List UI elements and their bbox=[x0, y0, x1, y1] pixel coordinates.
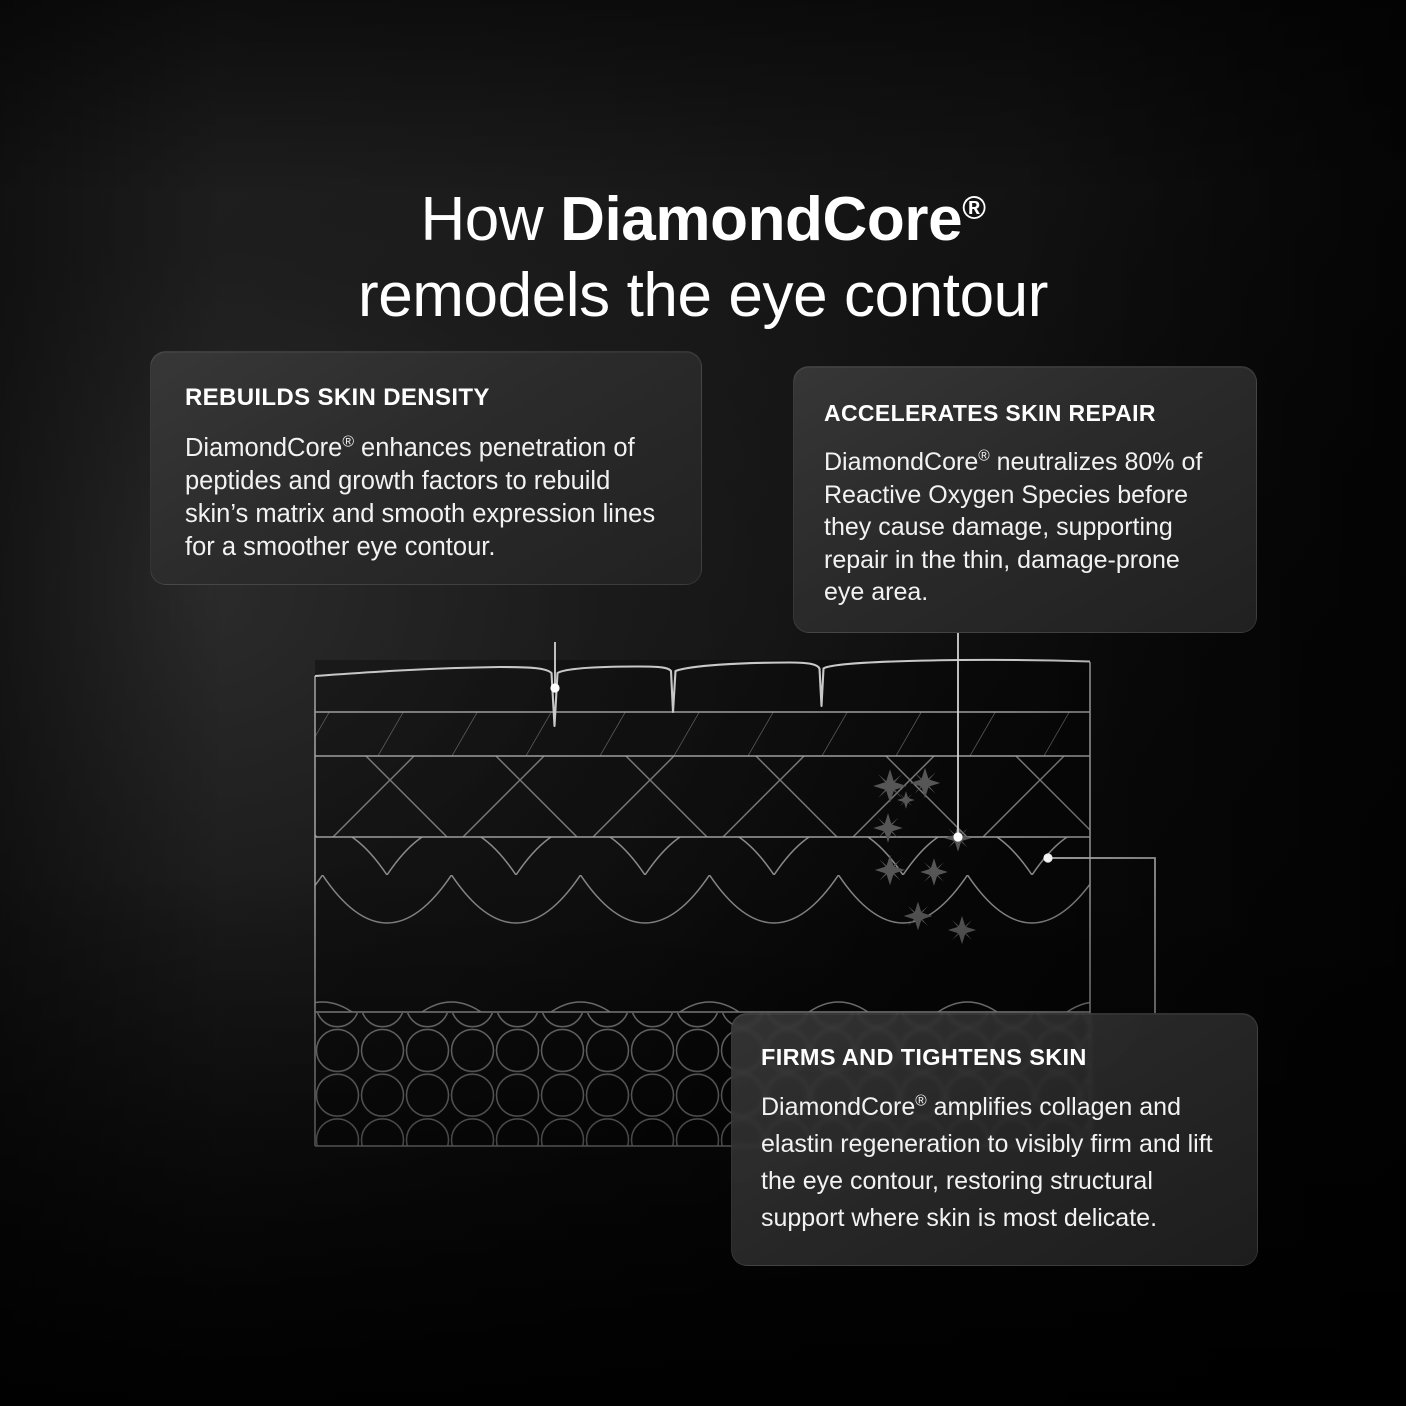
card-body-accelerates: DiamondCore® neutralizes 80% of Reactive… bbox=[824, 446, 1226, 609]
card-body-rebuilds: DiamondCore® enhances penetration of pep… bbox=[185, 432, 667, 565]
registered-mark-icon: ® bbox=[978, 448, 989, 465]
title-prefix: How bbox=[420, 185, 560, 254]
card-body-firms: DiamondCore® amplifies collagen and elas… bbox=[761, 1089, 1228, 1237]
title-line1: How DiamondCore® bbox=[420, 185, 985, 254]
page-title: How DiamondCore® remodels the eye contou… bbox=[0, 182, 1406, 336]
registered-mark-icon: ® bbox=[962, 189, 985, 225]
card-heading-accelerates: ACCELERATES SKIN REPAIR bbox=[824, 400, 1226, 427]
title-brand: DiamondCore bbox=[560, 185, 962, 254]
info-card-rebuilds-skin-density: REBUILDS SKIN DENSITY DiamondCore® enhan… bbox=[150, 351, 702, 585]
info-card-firms-and-tightens-skin: FIRMS AND TIGHTENS SKIN DiamondCore® amp… bbox=[731, 1013, 1258, 1266]
brand-name: DiamondCore bbox=[185, 434, 342, 462]
card-heading-rebuilds: REBUILDS SKIN DENSITY bbox=[185, 384, 667, 412]
brand-name: DiamondCore bbox=[824, 448, 978, 476]
title-line2: remodels the eye contour bbox=[120, 258, 1286, 335]
registered-mark-icon: ® bbox=[915, 1093, 926, 1110]
card-heading-firms: FIRMS AND TIGHTENS SKIN bbox=[761, 1044, 1228, 1071]
brand-name: DiamondCore bbox=[761, 1093, 915, 1121]
infographic-root: How DiamondCore® remodels the eye contou… bbox=[0, 0, 1406, 1406]
info-card-accelerates-skin-repair: ACCELERATES SKIN REPAIR DiamondCore® neu… bbox=[793, 366, 1257, 633]
registered-mark-icon: ® bbox=[342, 434, 354, 451]
